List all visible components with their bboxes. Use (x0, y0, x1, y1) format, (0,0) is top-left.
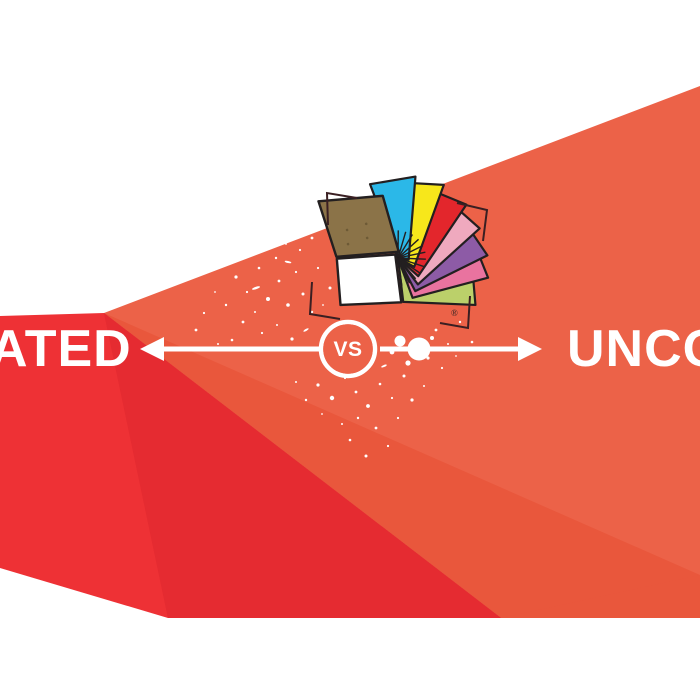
region-white-bottom (0, 618, 700, 700)
right-arrow-shaft (380, 347, 524, 352)
label-coated: ATED (0, 323, 132, 375)
label-uncoated: UNCO (567, 323, 700, 375)
vs-badge-label: VS (333, 338, 362, 362)
graphic-canvas: ® ATED (0, 0, 700, 700)
left-arrow-shaft (158, 347, 320, 352)
registered-mark: ® (451, 308, 458, 318)
